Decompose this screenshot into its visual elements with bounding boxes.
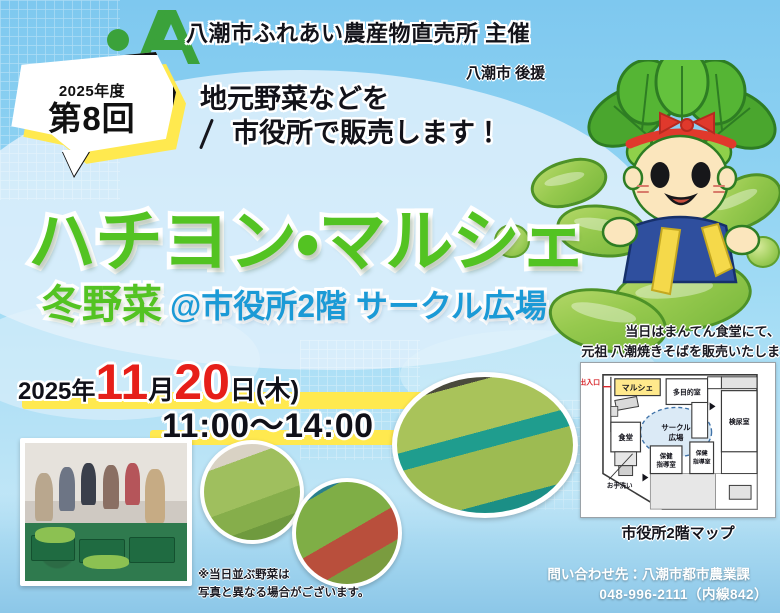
shopper xyxy=(35,473,53,521)
svg-text:保健: 保健 xyxy=(695,449,708,457)
svg-text:マルシェ: マルシェ xyxy=(622,384,654,393)
photo-komatsuna-packs xyxy=(200,440,304,544)
contact-info: 問い合わせ先：八潮市都市農業課 048-996-2111（内線842） xyxy=(547,565,768,606)
vegetable-pile xyxy=(35,527,75,543)
vegetable-pile xyxy=(83,555,129,569)
svg-text:保健: 保健 xyxy=(659,451,673,460)
photo-market-shoppers xyxy=(20,438,192,586)
date-year: 2025年 xyxy=(18,371,95,406)
photo-disclaimer-line-1: ※当日並ぶ野菜は xyxy=(198,566,369,584)
lead-line-1: 地元野菜などを xyxy=(200,82,502,116)
svg-text:出入口: 出入口 xyxy=(581,378,600,387)
photo-komatsuna-content xyxy=(204,444,300,540)
contact-phone: 048-996-2111（内線842） xyxy=(547,585,768,605)
shopper xyxy=(125,463,140,505)
photo-disclaimer: ※当日並ぶ野菜は 写真と異なる場合がございます。 xyxy=(198,566,369,603)
subtitle-row: 冬野菜 @市役所2階 サークル広場 xyxy=(42,272,547,330)
svg-text:広場: 広場 xyxy=(669,433,684,442)
edition-badge-tail xyxy=(62,150,90,176)
edition-number: 第8回 xyxy=(48,102,135,135)
mascot-icon xyxy=(576,60,780,310)
shopper xyxy=(103,465,119,509)
svg-text:お手洗い: お手洗い xyxy=(607,480,633,489)
flyer-poster: 2025年度 第8回 八潮市ふれあい農産物直売所 主催 八潮市 後援 地元野菜な… xyxy=(0,0,780,613)
photo-disclaimer-line-2: 写真と異なる場合がございます。 xyxy=(198,584,369,602)
lead-line-2: 市役所で販売します！ xyxy=(232,116,502,150)
lead-copy: 地元野菜などを 市役所で販売します！ xyxy=(200,82,502,150)
edition-badge: 2025年度 第8回 xyxy=(8,52,186,170)
map-caption: 市役所2階マップ xyxy=(580,522,776,543)
subtitle-venue: @市役所2階 サークル広場 xyxy=(170,281,547,330)
shopper xyxy=(59,467,75,511)
svg-text:多目的室: 多目的室 xyxy=(673,388,701,397)
contact-line-1: 問い合わせ先：八潮市都市農業課 xyxy=(547,565,768,585)
host-line: 八潮市ふれあい農産物直売所 主催 xyxy=(186,16,530,48)
photo-green-vegetables-crates xyxy=(392,372,578,518)
event-time: 11:00〜14:00 xyxy=(162,398,374,447)
svg-text:検尿室: 検尿室 xyxy=(729,417,750,426)
date-month-number: 11 xyxy=(95,358,148,406)
svg-text:指導室: 指導室 xyxy=(657,460,677,469)
svg-text:食堂: 食堂 xyxy=(617,433,633,442)
floor-map: マルシェ 出入口 多目的室 サークル 広場 食堂 お手洗い 保健 指導室 xyxy=(580,362,776,518)
vegetable-crate xyxy=(129,537,175,563)
photo-green-vegetables-content xyxy=(397,377,573,513)
photo-market-content xyxy=(25,443,187,581)
svg-text:サークル: サークル xyxy=(661,423,691,432)
shopper xyxy=(145,469,165,523)
page-title: ハチヨン・マルシェ xyxy=(28,186,586,285)
manten-note-line-1: 当日はまんてん食堂にて、 xyxy=(566,322,780,342)
support-line: 八潮市 後援 xyxy=(466,62,545,83)
shopper xyxy=(81,463,96,505)
subtitle-theme: 冬野菜 xyxy=(42,272,162,330)
svg-text:指導室: 指導室 xyxy=(693,458,711,466)
edition-year: 2025年度 xyxy=(59,80,125,101)
